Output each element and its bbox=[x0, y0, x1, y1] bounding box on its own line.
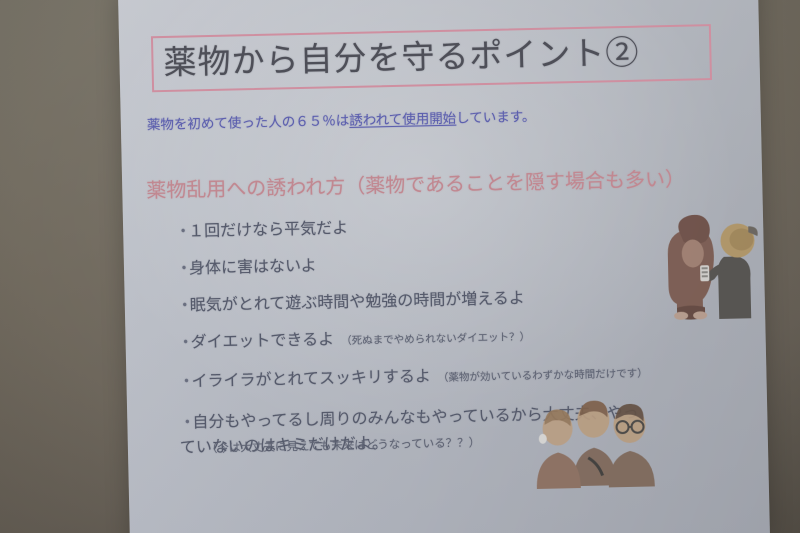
bullet-marker: ・ bbox=[176, 258, 189, 280]
list-item-label: １回だけなら平気だよ bbox=[188, 218, 348, 240]
presentation-slide: 薬物から自分を守るポイント② 薬物を初めて使った人の６５％は誘われて使用開始して… bbox=[118, 0, 770, 533]
page-title: 薬物から自分を守るポイント② bbox=[163, 23, 712, 91]
bullet-marker: ・ bbox=[179, 409, 193, 434]
list-item-label: 身体に害はないよ bbox=[189, 256, 317, 278]
bullet-marker: ・ bbox=[178, 370, 191, 392]
list-item-label: ダイエットできるよ bbox=[190, 329, 334, 351]
subtitle-after: しています。 bbox=[456, 109, 536, 127]
three-people-group-icon bbox=[527, 396, 664, 491]
list-item-note: （薬物が効いているわずかな時間だけです） bbox=[438, 368, 648, 385]
bullet-marker: ・ bbox=[177, 332, 190, 354]
subtitle-underlined: 誘われて使用開始 bbox=[349, 111, 456, 129]
bullet-marker: ・ bbox=[177, 295, 190, 317]
subtitle-statistic: 薬物を初めて使った人の６５％は誘われて使用開始しています。 bbox=[147, 103, 747, 134]
list-item: ・イライラがとれてスッキリするよ（薬物が効いているわずかな時間だけです） bbox=[178, 358, 768, 395]
list-item-note: （死ぬまでやめられないダイエット？） bbox=[341, 331, 530, 347]
subtitle-before: 薬物を初めて使った人の６５％は bbox=[147, 113, 350, 133]
section-heading: 薬物乱用への誘われ方（薬物であることを隠す場合も多い） bbox=[146, 163, 756, 204]
two-people-offering-drug-icon bbox=[645, 206, 768, 327]
list-item-label: イライラがとれてスッキリするよ bbox=[191, 366, 431, 390]
bullet-marker: ・ bbox=[175, 221, 188, 243]
photograph-of-projected-slide: 薬物から自分を守るポイント② 薬物を初めて使った人の６５％は誘われて使用開始して… bbox=[0, 0, 800, 533]
list-item-label: 眠気がとれて遊ぶ時間や勉強の時間が増えるよ bbox=[190, 288, 525, 314]
